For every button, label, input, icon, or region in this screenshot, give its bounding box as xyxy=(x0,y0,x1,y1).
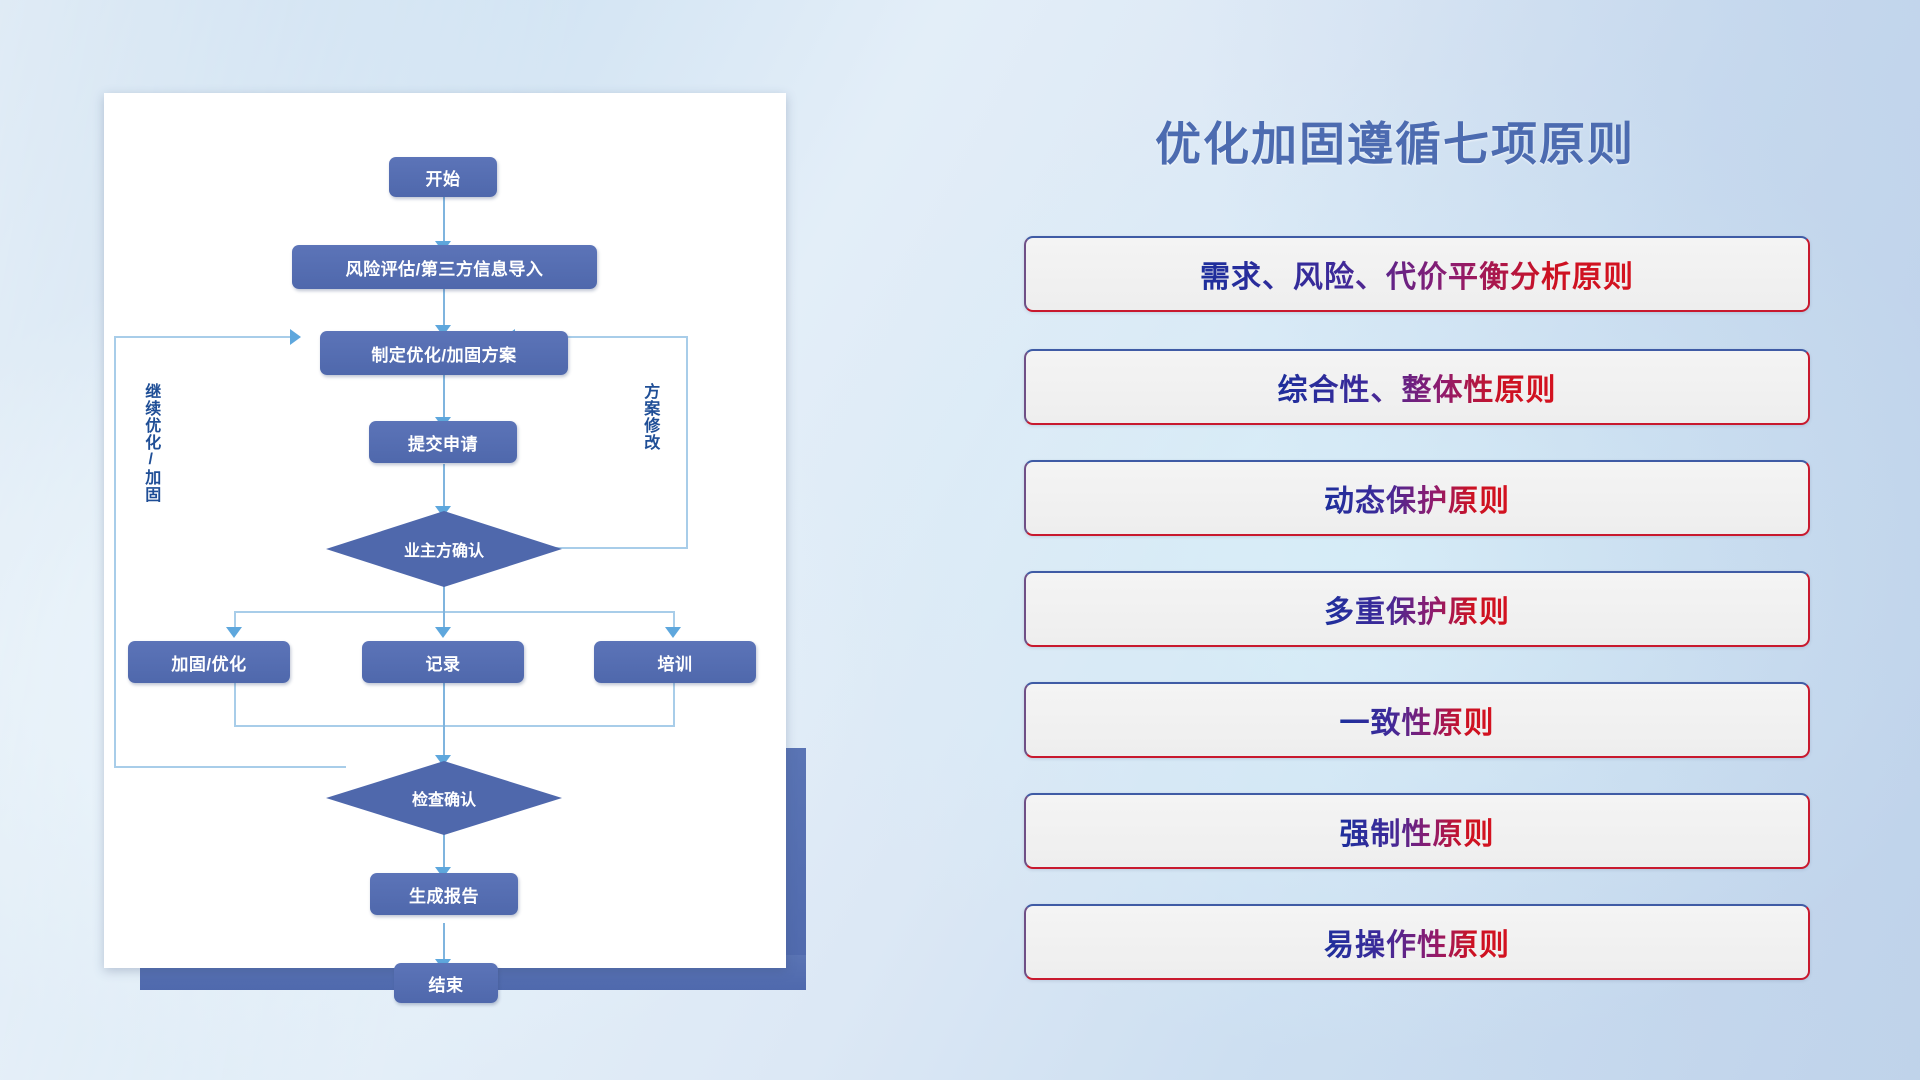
arrowhead-to-record xyxy=(435,627,451,638)
principle-item-5-label: 一致性原则 xyxy=(1340,698,1495,742)
flow-node-risk-assessment[interactable]: 风险评估/第三方信息导入 xyxy=(292,245,597,289)
flow-node-record[interactable]: 记录 xyxy=(362,641,524,683)
principle-item-3-label: 动态保护原则 xyxy=(1324,476,1510,520)
flowchart-card: 开始 风险评估/第三方信息导入 制定优化/加固方案 提交申请 业主方确认 加固/… xyxy=(104,93,786,968)
flow-node-record-label: 记录 xyxy=(426,650,461,675)
flow-node-plan-label: 制定优化/加固方案 xyxy=(371,341,516,366)
flow-node-report[interactable]: 生成报告 xyxy=(370,873,518,915)
connector-reinforce-down xyxy=(234,683,236,727)
arrowhead-to-training xyxy=(665,627,681,638)
principle-item-4[interactable]: 多重保护原则 xyxy=(1024,571,1810,647)
principles-title: 优化加固遵循七项原则 xyxy=(1155,108,1635,174)
flow-node-start-label: 开始 xyxy=(426,165,461,190)
flow-node-owner-confirm[interactable]: 业主方确认 xyxy=(326,511,562,587)
principle-item-6-label: 强制性原则 xyxy=(1340,809,1495,853)
arrowhead-left-loop-into-plan xyxy=(290,329,301,345)
principle-item-2-label: 综合性、整体性原则 xyxy=(1278,365,1557,409)
edge-label-plan-revision: 方案修改 xyxy=(641,383,658,493)
principle-item-4-label: 多重保护原则 xyxy=(1324,587,1510,631)
principle-item-7-label: 易操作性原则 xyxy=(1324,920,1510,964)
flow-node-risk-assessment-label: 风险评估/第三方信息导入 xyxy=(346,255,544,280)
connector-right-loop-vertical xyxy=(686,336,688,548)
connector-left-loop-top xyxy=(114,336,296,338)
flow-node-plan[interactable]: 制定优化/加固方案 xyxy=(320,331,568,375)
flow-node-check-confirm-label: 检查确认 xyxy=(412,786,476,810)
connector-left-loop-vertical xyxy=(114,336,116,767)
connector-start-to-risk xyxy=(443,194,445,248)
flow-node-submit-label: 提交申请 xyxy=(408,430,478,455)
principle-item-1[interactable]: 需求、风险、代价平衡分析原则 xyxy=(1024,236,1810,312)
flow-node-end-label: 结束 xyxy=(429,971,464,996)
connector-record-to-check xyxy=(443,683,445,762)
principle-item-5[interactable]: 一致性原则 xyxy=(1024,682,1810,758)
connector-left-loop-bottom xyxy=(114,766,346,768)
flow-node-submit[interactable]: 提交申请 xyxy=(369,421,517,463)
principle-item-1-label: 需求、风险、代价平衡分析原则 xyxy=(1200,252,1634,296)
flow-node-check-confirm[interactable]: 检查确认 xyxy=(326,761,562,835)
edge-label-continue-optimize: 继续优化/加固 xyxy=(142,383,159,543)
flow-node-report-label: 生成报告 xyxy=(409,882,479,907)
principle-item-3[interactable]: 动态保护原则 xyxy=(1024,460,1810,536)
flow-node-reinforce[interactable]: 加固/优化 xyxy=(128,641,290,683)
flow-node-owner-confirm-label: 业主方确认 xyxy=(404,537,484,561)
flow-node-training[interactable]: 培训 xyxy=(594,641,756,683)
flow-node-end[interactable]: 结束 xyxy=(394,963,498,1003)
slide-canvas: 开始 风险评估/第三方信息导入 制定优化/加固方案 提交申请 业主方确认 加固/… xyxy=(0,0,1920,1080)
principle-item-7[interactable]: 易操作性原则 xyxy=(1024,904,1810,980)
flow-node-start[interactable]: 开始 xyxy=(389,157,497,197)
flow-node-reinforce-label: 加固/优化 xyxy=(171,650,246,675)
connector-merge-bus xyxy=(234,725,675,727)
connector-training-down xyxy=(673,683,675,727)
flow-node-training-label: 培训 xyxy=(658,650,693,675)
arrowhead-to-reinforce xyxy=(226,627,242,638)
principle-item-6[interactable]: 强制性原则 xyxy=(1024,793,1810,869)
principle-item-2[interactable]: 综合性、整体性原则 xyxy=(1024,349,1810,425)
connector-owner-split-bus xyxy=(234,611,674,613)
